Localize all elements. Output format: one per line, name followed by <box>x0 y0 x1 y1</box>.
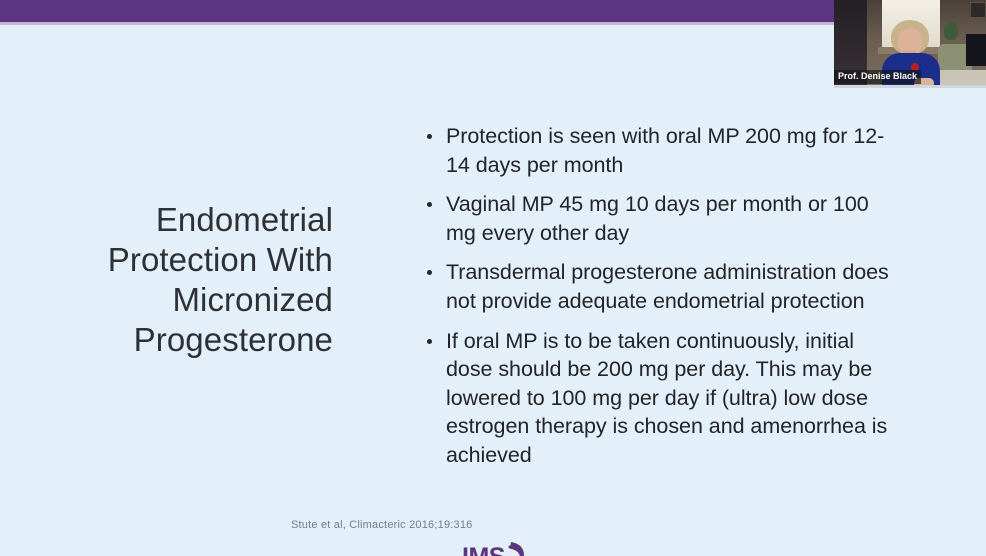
bullet-text: If oral MP is to be taken continuously, … <box>446 329 887 467</box>
bullet-text: Protection is seen with oral MP 200 mg f… <box>446 124 884 177</box>
bullet-dot-icon <box>427 270 432 275</box>
ims-swoosh-icon <box>508 539 532 556</box>
video-background-picture-frame <box>970 2 986 18</box>
bullet-dot-icon <box>427 134 432 139</box>
ims-logo-text: IMS <box>462 543 505 556</box>
list-item: Transdermal progesterone administration … <box>422 258 902 315</box>
bullet-text: Transdermal progesterone administration … <box>446 260 889 313</box>
slide-content-area: Endometrial Protection With Micronized P… <box>0 25 986 556</box>
ims-logo: IMS <box>462 541 532 556</box>
participant-video-thumbnail[interactable]: Prof. Denise Black <box>834 0 986 88</box>
list-item: Vaginal MP 45 mg 10 days per month or 10… <box>422 190 902 247</box>
participant-name-label: Prof. Denise Black <box>834 70 921 84</box>
slide-citation: Stute et al, Climacteric 2016;19:316 <box>291 519 472 531</box>
slide-bullet-list: Protection is seen with oral MP 200 mg f… <box>422 122 902 470</box>
bullet-dot-icon <box>427 202 432 207</box>
list-item: If oral MP is to be taken continuously, … <box>422 327 902 470</box>
video-bottom-edge <box>834 85 986 88</box>
video-background-monitor <box>966 34 986 66</box>
list-item: Protection is seen with oral MP 200 mg f… <box>422 122 902 179</box>
bullet-text: Vaginal MP 45 mg 10 days per month or 10… <box>446 192 869 245</box>
slide-title: Endometrial Protection With Micronized P… <box>55 200 333 360</box>
video-background-plant <box>944 22 958 40</box>
bullet-dot-icon <box>427 339 432 344</box>
presentation-viewer: Endometrial Protection With Micronized P… <box>0 0 986 556</box>
